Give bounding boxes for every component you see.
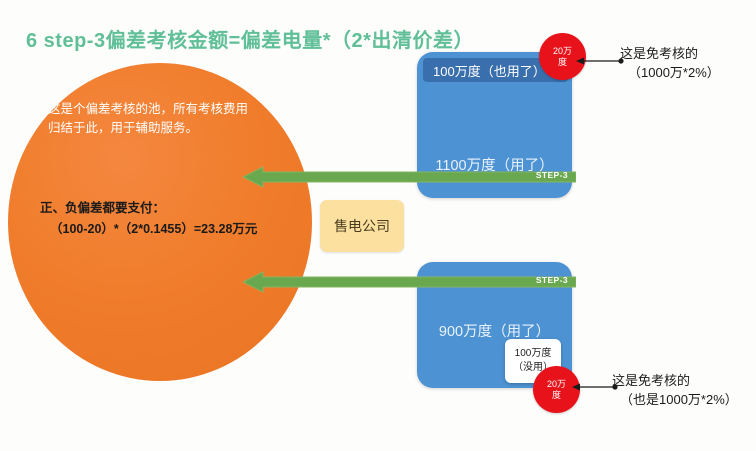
diagram-canvas: 6 step-3偏差考核金额=偏差电量*（2*出清价差） 这是个偏差考核的池，所… xyxy=(0,0,756,451)
pool-formula-line2: （100-20）*（2*0.1455）=23.28万元 xyxy=(40,219,330,240)
page-title: 6 step-3偏差考核金额=偏差电量*（2*出清价差） xyxy=(26,24,474,53)
callout-bottom-line1: 这是免考核的 xyxy=(612,371,738,390)
callout-top-line2: （1000万*2%） xyxy=(620,63,720,82)
pool-formula-block: 正、负偏差都要支付： （100-20）*（2*0.1455）=23.28万元 xyxy=(40,198,330,240)
callout-exempt-top: 这是免考核的 （1000万*2%） xyxy=(620,44,720,82)
pool-description-text: 这是个偏差考核的池，所有考核费用归结于此，用于辅助服务。 xyxy=(48,100,248,138)
red-top-line2: 度 xyxy=(558,57,567,68)
callout-exempt-bottom: 这是免考核的 （也是1000万*2%） xyxy=(612,371,738,409)
leader-arrow-icon xyxy=(576,55,624,67)
retailer-company-box: 售电公司 xyxy=(320,200,404,252)
red-bottom-line2: 度 xyxy=(552,390,561,401)
red-bottom-line1: 20万 xyxy=(547,379,566,390)
step3-arrow-top: STEP-3 xyxy=(243,166,576,188)
leader-line-top xyxy=(576,54,624,66)
blue-bottom-main-label: 900万度（用了） xyxy=(417,320,572,341)
unused-energy-line1: 100万度 xyxy=(515,347,552,361)
step3-arrow-top-label: STEP-3 xyxy=(536,170,568,180)
step3-arrow-bottom: STEP-3 xyxy=(243,271,576,293)
left-arrow-icon xyxy=(243,166,576,188)
callout-top-line1: 这是免考核的 xyxy=(620,44,720,63)
callout-bottom-line2: （也是1000万*2%） xyxy=(612,390,738,409)
pool-formula-line1: 正、负偏差都要支付： xyxy=(40,198,330,219)
red-top-line1: 20万 xyxy=(553,46,572,57)
step3-arrow-bottom-label: STEP-3 xyxy=(536,275,568,285)
left-arrow-icon xyxy=(243,271,576,293)
